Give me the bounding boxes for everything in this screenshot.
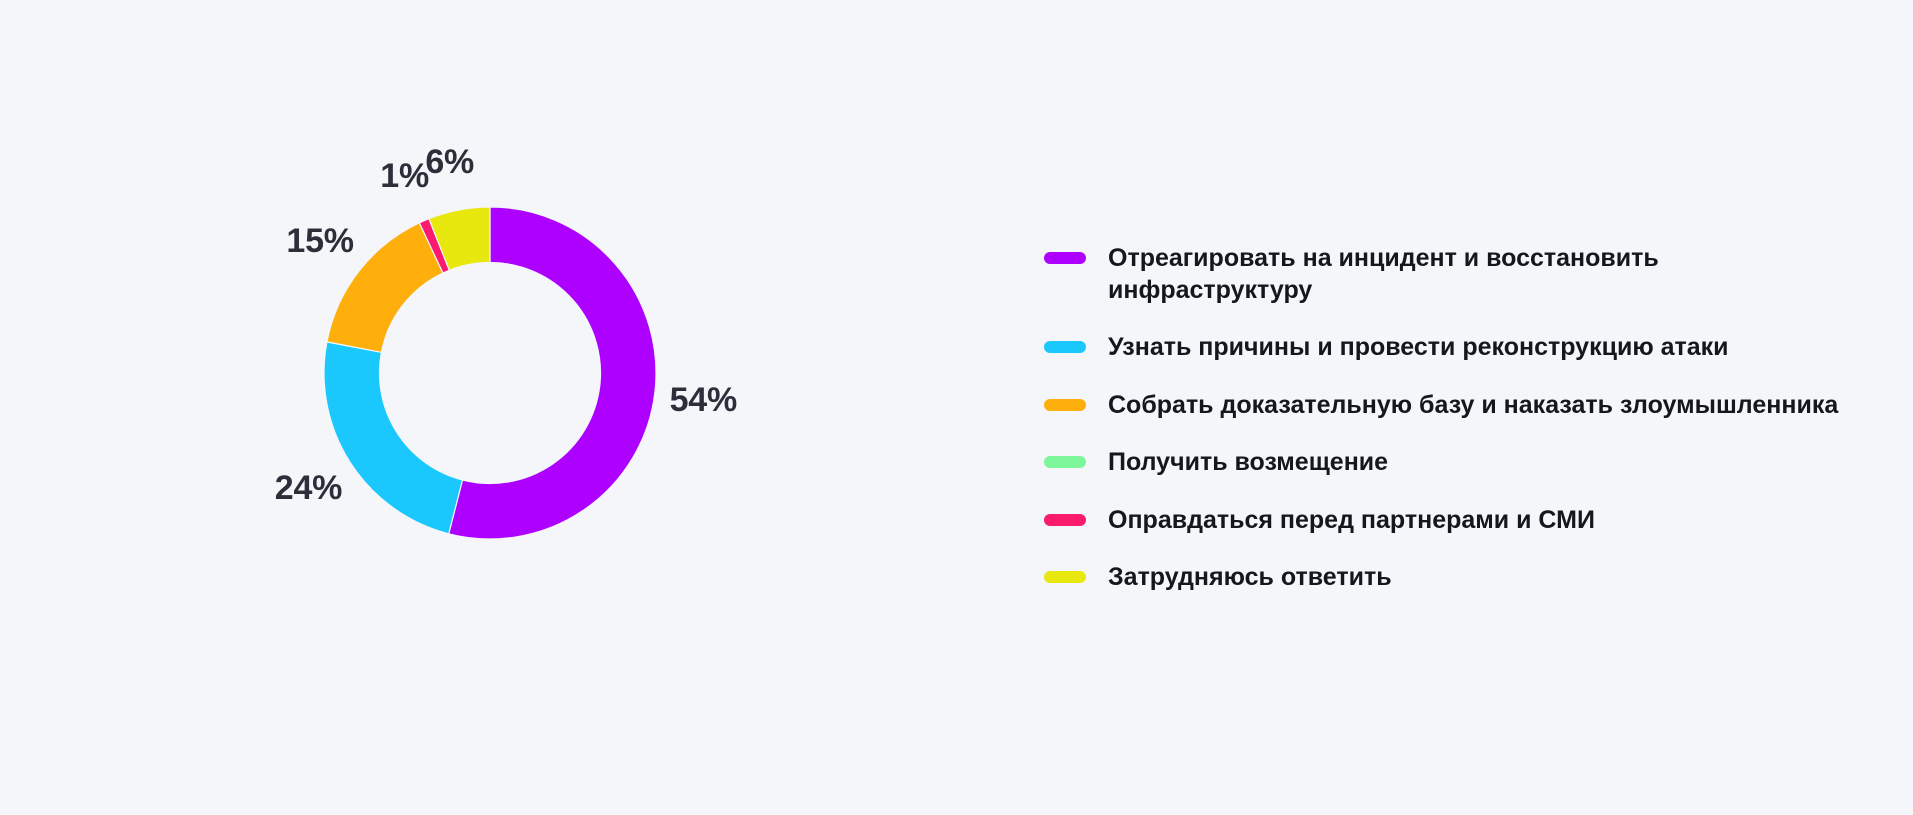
legend-color-swatch-icon — [1044, 399, 1086, 411]
legend-item[interactable]: Оправдаться перед партнерами и СМИ — [1044, 505, 1884, 537]
slice-percentage-label: 1% — [380, 159, 429, 193]
legend-item-label: Оправдаться перед партнерами и СМИ — [1108, 505, 1595, 537]
donut-slice-group — [324, 207, 656, 539]
legend-color-swatch-icon — [1044, 341, 1086, 353]
donut-plot-area: 54%24%15%1%6% — [0, 0, 1020, 815]
chart-legend: Отреагировать на инцидент и восстановить… — [1044, 243, 1884, 594]
legend-item-label: Затрудняюсь ответить — [1108, 562, 1392, 594]
legend-item[interactable]: Получить возмещение — [1044, 447, 1884, 479]
legend-color-swatch-icon — [1044, 456, 1086, 468]
slice-percentage-label: 24% — [275, 471, 342, 505]
legend-item-label: Отреагировать на инцидент и восстановить… — [1108, 243, 1868, 306]
donut-slice[interactable] — [324, 342, 463, 534]
legend-item-label: Получить возмещение — [1108, 447, 1388, 479]
legend-color-swatch-icon — [1044, 252, 1086, 264]
legend-color-swatch-icon — [1044, 514, 1086, 526]
donut-svg — [0, 0, 1020, 815]
slice-percentage-label: 54% — [670, 383, 737, 417]
slice-percentage-label: 6% — [425, 145, 474, 179]
legend-item[interactable]: Узнать причины и провести реконструкцию … — [1044, 332, 1884, 364]
legend-item[interactable]: Затрудняюсь ответить — [1044, 562, 1884, 594]
slice-percentage-label: 15% — [286, 224, 353, 258]
legend-item[interactable]: Собрать доказательную базу и наказать зл… — [1044, 390, 1884, 422]
legend-item-label: Узнать причины и провести реконструкцию … — [1108, 332, 1729, 364]
donut-chart-figure: 54%24%15%1%6% Отреагировать на инцидент … — [0, 0, 1913, 815]
legend-color-swatch-icon — [1044, 571, 1086, 583]
legend-item[interactable]: Отреагировать на инцидент и восстановить… — [1044, 243, 1884, 306]
legend-item-label: Собрать доказательную базу и наказать зл… — [1108, 390, 1838, 422]
